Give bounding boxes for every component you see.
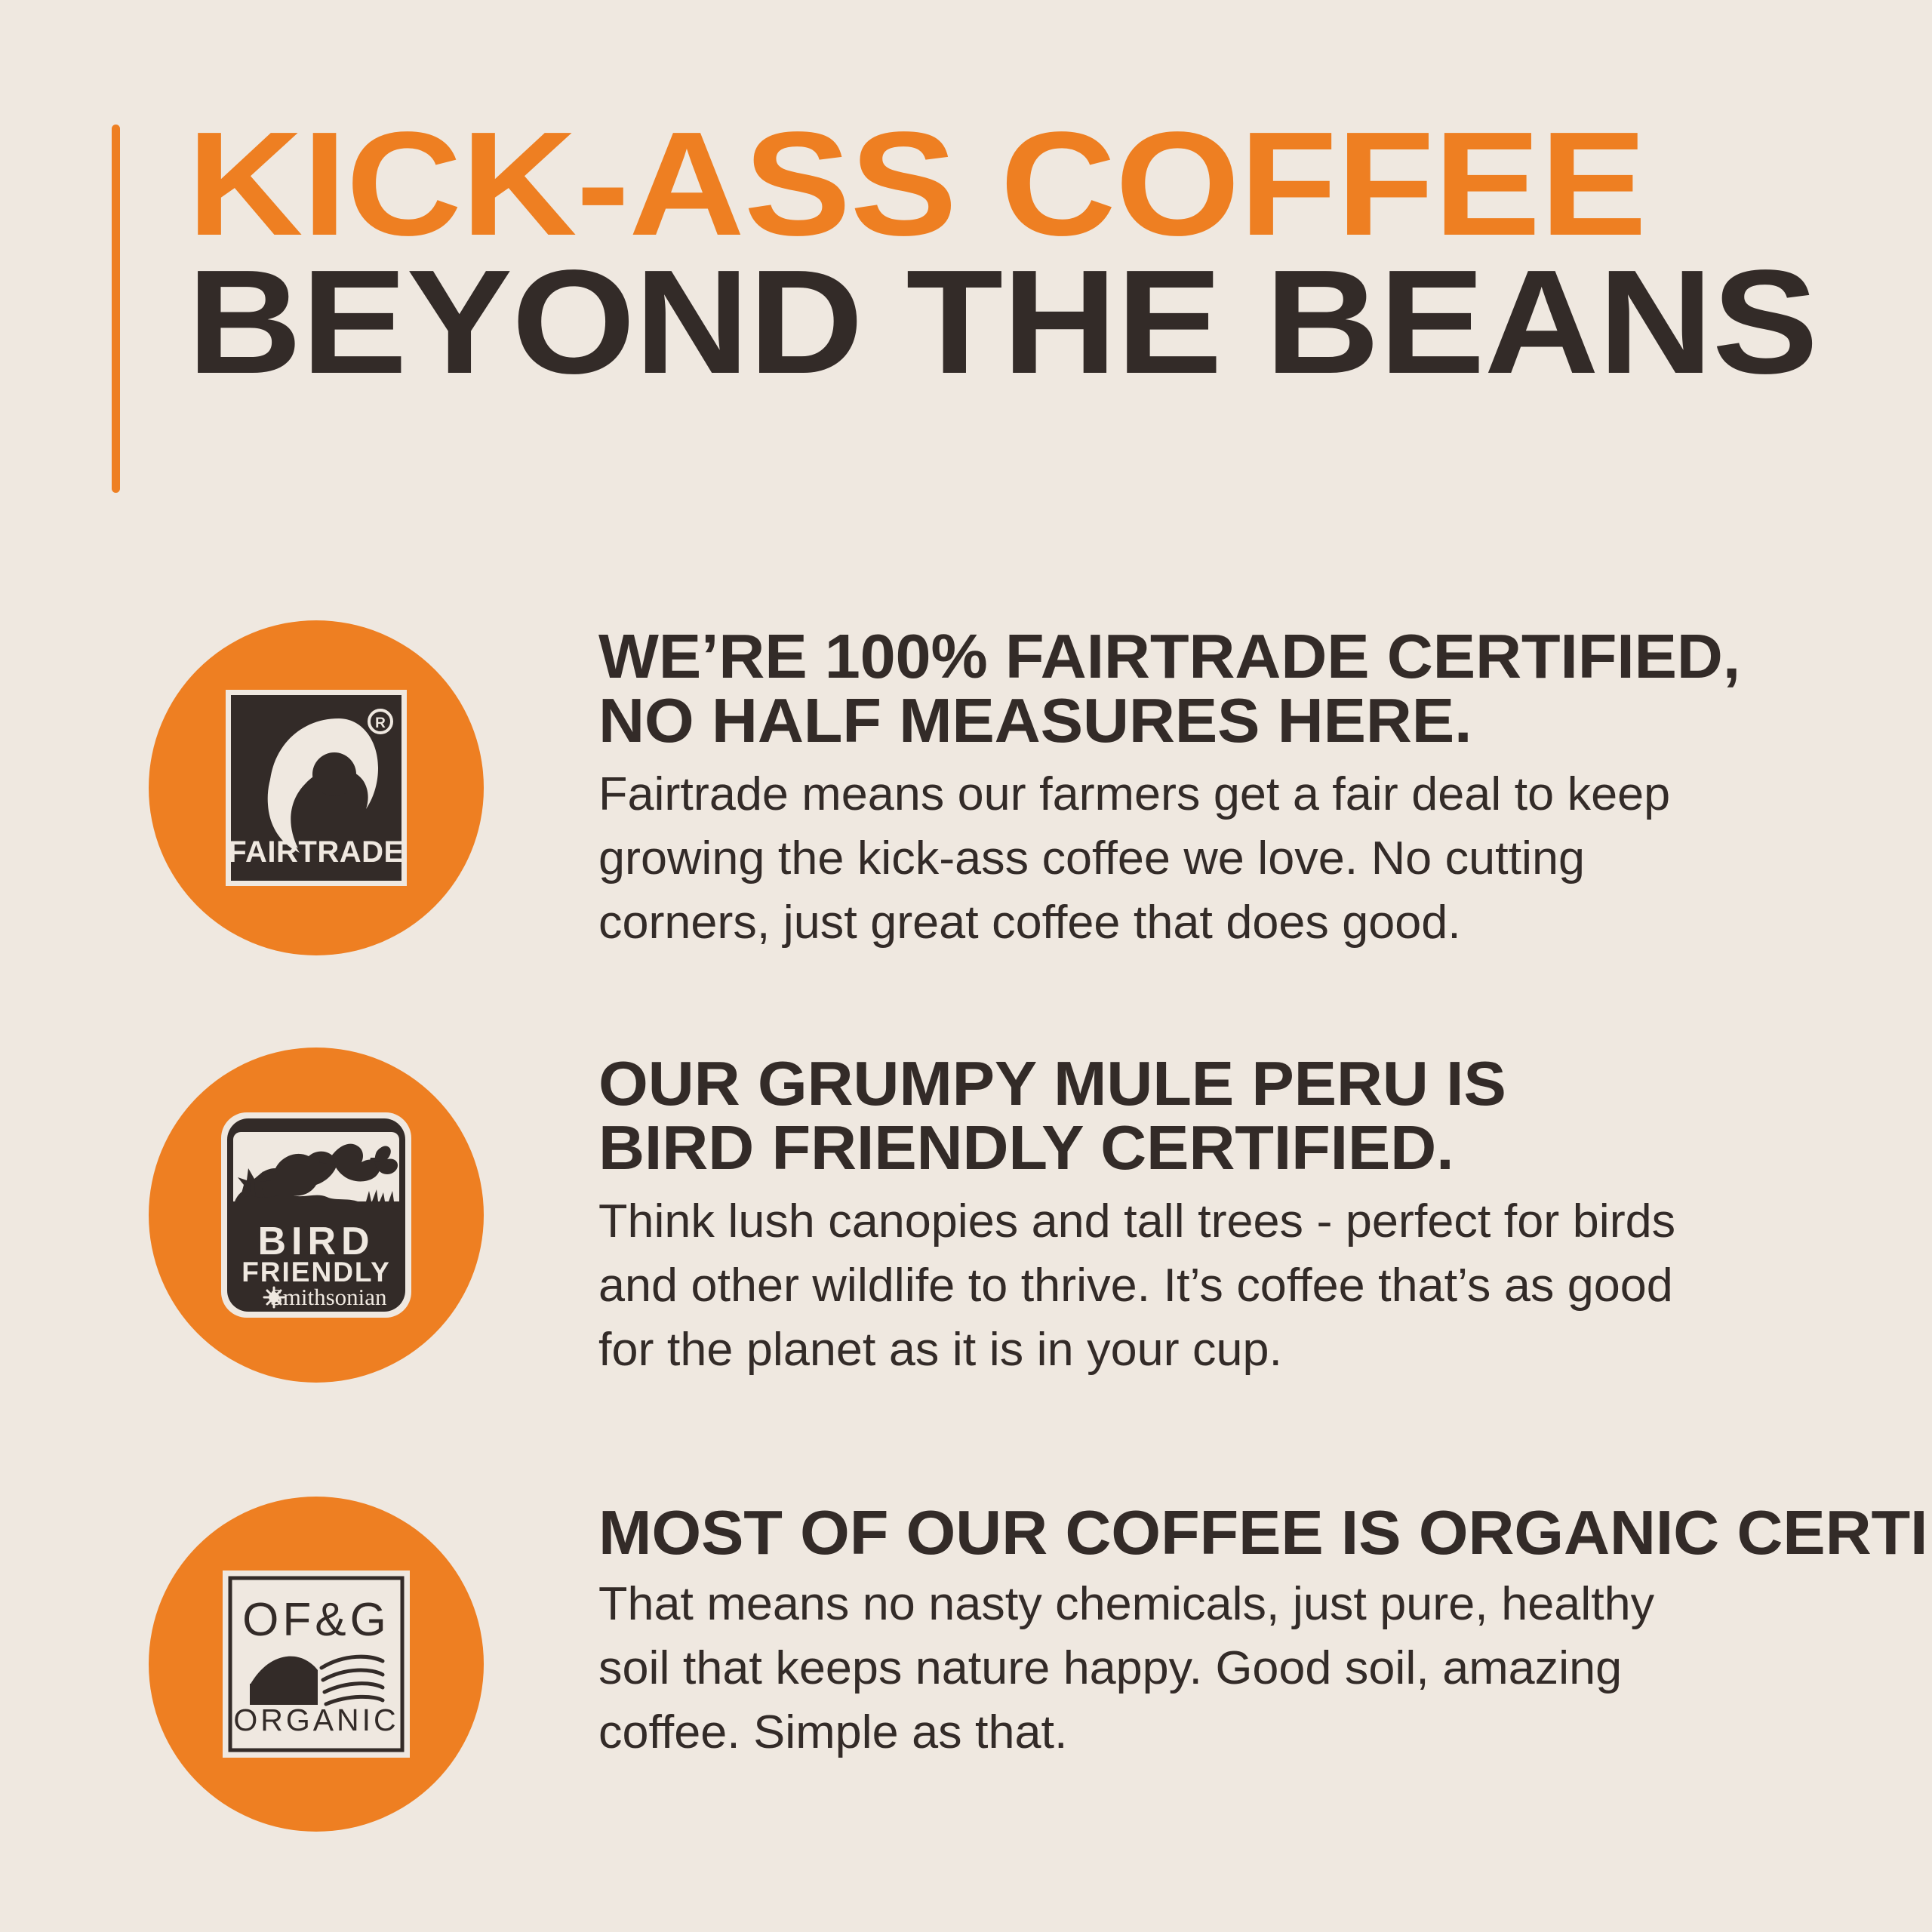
svg-text:R: R — [375, 715, 386, 731]
fairtrade-logo-icon: R FAIRTRADE — [226, 690, 407, 886]
bird-friendly-body-line-3: for the planet as it is in your cup. — [598, 1318, 1824, 1383]
bird-friendly-label-friendly: FRIENDLY — [241, 1257, 391, 1287]
organic-heading: MOST OF OUR COFFEE IS ORGANIC CERTIFIED. — [598, 1501, 1830, 1565]
fairtrade-label: FAIRTRADE — [228, 835, 404, 869]
fairtrade-body-line-3: corners, just great coffee that does goo… — [598, 891, 1824, 955]
bird-friendly-body: Think lush canopies and tall trees - per… — [598, 1190, 1824, 1383]
organic-body-line-3: coffee. Simple as that. — [598, 1701, 1824, 1765]
bird-friendly-label-smithsonian: Smithsonian — [269, 1284, 387, 1310]
bird-friendly-body-line-2: and other wildlife to thrive. It’s coffe… — [598, 1254, 1824, 1318]
organic-label: ORGANIC — [233, 1703, 398, 1737]
fairtrade-heading-line-2: NO HALF MEASURES HERE. — [598, 689, 1830, 753]
orange-accent-bar — [112, 125, 120, 493]
bird-friendly-body-line-1: Think lush canopies and tall trees - per… — [598, 1190, 1824, 1254]
bird-friendly-heading-line-1: OUR GRUMPY MULE PERU IS — [598, 1052, 1830, 1116]
infographic-page: KICK-ASS COFFEE BEYOND THE BEANS R FAIRT… — [0, 0, 1932, 1932]
page-header: KICK-ASS COFFEE BEYOND THE BEANS — [112, 121, 1847, 498]
bird-friendly-logo-icon: BIRD FRIENDLY — [221, 1112, 411, 1318]
organic-text-column: MOST OF OUR COFFEE IS ORGANIC CERTIFIED.… — [598, 1501, 1806, 1764]
fairtrade-heading-line-1: WE’RE 100% FAIRTRADE CERTIFIED, — [598, 625, 1830, 689]
organic-body-line-2: soil that keeps nature happy. Good soil,… — [598, 1637, 1824, 1701]
title-stack: KICK-ASS COFFEE BEYOND THE BEANS — [187, 121, 1704, 386]
fairtrade-body: Fairtrade means our farmers get a fair d… — [598, 763, 1824, 955]
ofg-label: OF&G — [242, 1594, 390, 1646]
organic-badge-circle: OF&G ORGANIC — [149, 1497, 484, 1832]
fairtrade-heading: WE’RE 100% FAIRTRADE CERTIFIED, NO HALF … — [598, 625, 1830, 752]
bird-friendly-heading-line-2: BIRD FRIENDLY CERTIFIED. — [598, 1116, 1830, 1180]
organic-body-line-1: That means no nasty chemicals, just pure… — [598, 1573, 1824, 1637]
bird-friendly-text-column: OUR GRUMPY MULE PERU IS BIRD FRIENDLY CE… — [598, 1052, 1806, 1383]
bird-friendly-badge-circle: BIRD FRIENDLY — [149, 1048, 484, 1383]
fairtrade-text-column: WE’RE 100% FAIRTRADE CERTIFIED, NO HALF … — [598, 625, 1806, 955]
ofg-organic-logo-icon: OF&G ORGANIC — [223, 1571, 410, 1758]
page-title-primary: KICK-ASS COFFEE — [187, 121, 1832, 248]
organic-body: That means no nasty chemicals, just pure… — [598, 1573, 1824, 1765]
fairtrade-body-line-1: Fairtrade means our farmers get a fair d… — [598, 763, 1824, 827]
fairtrade-badge-circle: R FAIRTRADE — [149, 620, 484, 955]
page-title-secondary: BEYOND THE BEANS — [187, 259, 1817, 386]
fairtrade-body-line-2: growing the kick-ass coffee we love. No … — [598, 827, 1824, 891]
organic-heading-line-1: MOST OF OUR COFFEE IS ORGANIC CERTIFIED. — [598, 1501, 1830, 1565]
bird-friendly-heading: OUR GRUMPY MULE PERU IS BIRD FRIENDLY CE… — [598, 1052, 1830, 1180]
